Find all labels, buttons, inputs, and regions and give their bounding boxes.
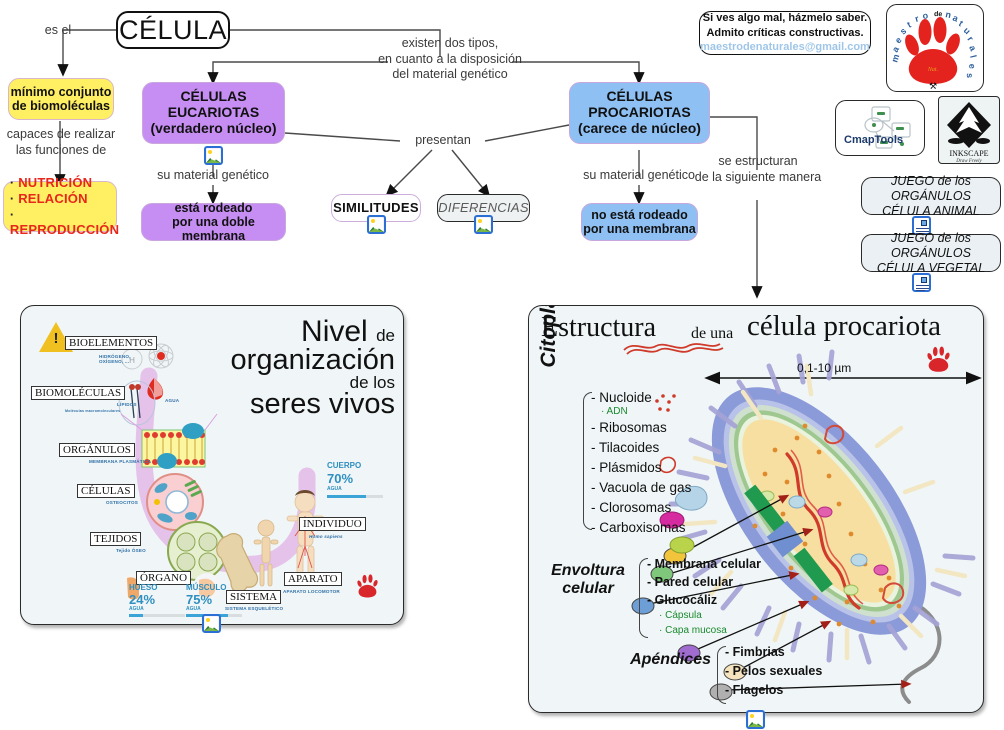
poster-sub-bioelementos: HIDRÓGENO, OXÍGENO, ... <box>99 354 131 364</box>
link-label-existen-dos-tipos: existen dos tipos, en cuanto a la dispos… <box>370 36 530 83</box>
stat-hueso-bar-fill <box>129 614 143 617</box>
poster-sub-individuo: Homo sapiens <box>309 534 343 539</box>
node-juego-celula-animal[interactable]: JUEGO de los ORGÁNULOS CÉLULA ANIMAL <box>861 177 1001 215</box>
svg-text:Nat.: Nat. <box>927 67 938 73</box>
svg-text:⚒: ⚒ <box>929 81 937 91</box>
node-feedback-note[interactable]: Si ves algo mal, házmelo saber. Admito c… <box>699 11 871 55</box>
node-poster-celula-procariota[interactable]: Estructura de una célula procariota <box>528 305 984 713</box>
cmaptools-icon: CmapTools <box>836 101 924 155</box>
svg-text:u: u <box>962 25 973 36</box>
svg-text:t: t <box>905 19 912 29</box>
svg-text:s: s <box>898 26 908 37</box>
item-membrana-celular: - Membrana celular <box>647 557 761 571</box>
svg-text:o: o <box>922 10 929 21</box>
poster-sub-aparato: APARATO LOCOMOTOR <box>283 589 340 594</box>
item-capa-mucosa: · Capa mucosa <box>659 625 727 636</box>
svg-text:r: r <box>914 13 921 24</box>
item-fimbrias: - Fimbrias <box>725 645 785 659</box>
poster-sub-celulas: OSTEOCITOS <box>106 500 138 505</box>
svg-text:t: t <box>957 18 965 28</box>
stat-hueso-unit: AGUA <box>129 606 144 612</box>
stat-cuerpo-bar-fill <box>327 495 366 498</box>
poster-sub-lipidos: LÍPIDOS <box>117 402 137 407</box>
node-similitudes-label: SIMILITUDES <box>332 201 420 216</box>
group-label-citoplasma: Citoplasma <box>537 305 561 386</box>
concept-map-canvas: CÉLULA es el existen dos tipos, en cuant… <box>0 0 1004 730</box>
poster-label-celulas: CÉLULAS <box>77 484 135 498</box>
poster-label-biomoleculas: BIOMOLÉCULAS <box>31 386 125 400</box>
link-label-capaces: capaces de realizar las funciones de <box>0 127 122 158</box>
poster-label-bioelementos: BIOELEMENTOS <box>65 336 157 350</box>
stat-musculo-name: MÚSCULO <box>186 583 226 592</box>
link-label-es-el: es el <box>28 23 88 39</box>
stat-hueso-name: HUESO <box>129 583 157 592</box>
funcion-item: · NUTRICIÓN <box>10 175 119 191</box>
image-resource-icon-eucariotas[interactable] <box>204 146 223 165</box>
svg-text:de: de <box>934 11 943 18</box>
document-resource-icon-vegetal[interactable] <box>912 273 931 292</box>
item-ribosomas: - Ribosomas <box>591 420 667 435</box>
note-line-1: Si ves algo mal, házmelo saber. <box>703 11 867 26</box>
poster-label-tejidos: TEJIDOS <box>90 532 141 546</box>
image-resource-icon-poster-niveles[interactable] <box>202 614 221 633</box>
node-celula-label: CÉLULA <box>118 15 228 45</box>
node-minimo-conjunto-label: mínimo conjunto de biomoléculas <box>9 85 113 113</box>
funcion-item: · REPRODUCCIÓN <box>10 207 119 239</box>
svg-text:CmapTools: CmapTools <box>844 134 903 146</box>
item-clorosomas: - Clorosomas <box>591 500 671 515</box>
poster-sub-tejidos: Tejido ÓSEO <box>116 548 146 553</box>
svg-text:m: m <box>889 53 901 64</box>
poster-label-aparato: APARATO <box>284 572 342 586</box>
node-funciones-vitales[interactable]: · NUTRICIÓN· RELACIÓN· REPRODUCCIÓN <box>3 181 117 232</box>
item-flagelos: - Flagelos <box>725 683 783 697</box>
stat-musculo-unit: AGUA <box>186 606 201 612</box>
node-doble-membrana[interactable]: está rodeado por una doble membrana <box>141 203 286 241</box>
node-juego-vegetal-label: JUEGO de los ORGÁNULOS CÉLULA VEGETAL <box>862 231 1000 276</box>
node-celulas-procariotas[interactable]: CÉLULAS PROCARIOTAS (carece de núcleo) <box>569 82 710 144</box>
item-vacuola-gas: - Vacuola de gas <box>591 480 691 495</box>
node-celulas-eucariotas-label: CÉLULAS EUCARIOTAS (verdadero núcleo) <box>143 89 284 136</box>
node-diferencias-label: DIFERENCIAS <box>438 201 529 216</box>
inkscape-icon: INKSCAPE Draw Freely <box>939 97 999 163</box>
item-plasmidos: - Plásmidos <box>591 460 662 475</box>
svg-text:a: a <box>967 44 979 54</box>
svg-text:n: n <box>945 9 952 20</box>
item-carboxisomas: - Carboxisomas <box>591 520 686 535</box>
image-resource-icon-diferencias[interactable] <box>474 215 493 234</box>
stat-hueso-value: 24% <box>129 592 155 607</box>
node-inkscape-logo[interactable]: INKSCAPE Draw Freely <box>938 96 1000 164</box>
link-label-su-material-der: su material genético <box>573 168 705 184</box>
link-label-presentan: presentan <box>403 133 483 149</box>
node-brand-logo[interactable]: Nat. ⚒ m a e s t r o de n a t u r a l e … <box>886 4 984 92</box>
item-nucloide: - Nucloide <box>591 390 652 405</box>
scale-label: 0,1-10 µm <box>797 361 851 375</box>
svg-text:s: s <box>965 73 975 78</box>
poster-label-organulos: ORGÁNULOS <box>59 443 135 457</box>
node-juego-animal-label: JUEGO de los ORGÁNULOS CÉLULA ANIMAL <box>862 174 1000 219</box>
funcion-item: · RELACIÓN <box>10 191 119 207</box>
poster-sub-biomoleculas: Moléculas macromoleculares <box>65 409 120 413</box>
item-capsula: · Cápsula <box>659 610 702 621</box>
group-label-apendices: Apéndices <box>591 651 711 669</box>
node-cmaptools-logo[interactable]: CmapTools <box>835 100 925 156</box>
svg-text:INKSCAPE: INKSCAPE <box>949 149 988 158</box>
item-pelos-sexuales: - Pelos sexuales <box>725 664 822 678</box>
node-celula[interactable]: CÉLULA <box>116 11 230 49</box>
poster-sub-sistema: SISTEMA ESQUELÉTICO <box>225 606 283 611</box>
poster-sub-organulos: MEMBRANA PLASMÁTICA <box>89 459 151 464</box>
node-celulas-procariotas-label: CÉLULAS PROCARIOTAS (carece de núcleo) <box>570 89 709 136</box>
poster-label-sistema: SISTEMA <box>226 590 281 604</box>
node-doble-membrana-label: está rodeado por una doble membrana <box>142 201 285 243</box>
svg-text:Draw Freely: Draw Freely <box>955 159 982 163</box>
poster-sub-agua: AGUA <box>165 398 179 403</box>
node-poster-niveles-organizacion[interactable]: Nivel de organización de los seres vivos… <box>20 305 404 625</box>
group-label-envoltura: Envoltura celular <box>533 562 643 598</box>
node-juego-celula-vegetal[interactable]: JUEGO de los ORGÁNULOS CÉLULA VEGETAL <box>861 234 1001 272</box>
svg-text:e: e <box>893 35 904 45</box>
item-tilacoides: - Tilacoides <box>591 440 659 455</box>
poster-label-individuo: INDIVIDUO <box>299 517 366 531</box>
svg-text:e: e <box>967 63 977 69</box>
stat-cuerpo-value: 70% <box>327 471 353 486</box>
stat-musculo-value: 75% <box>186 592 212 607</box>
link-label-su-material-izq: su material genético <box>147 168 279 184</box>
link-label-se-estructuran: se estructuran de la siguiente manera <box>694 154 822 185</box>
node-minimo-conjunto[interactable]: mínimo conjunto de biomoléculas <box>8 78 114 120</box>
item-pared-celular: - Pared celular <box>647 575 733 589</box>
node-sin-membrana-label: no está rodeado por una membrana <box>582 208 697 236</box>
paw-logo-icon: Nat. ⚒ m a e s t r o de n a t u r a l e … <box>887 5 983 91</box>
note-line-2: Admito críticas constructivas. <box>706 26 863 41</box>
svg-text:l: l <box>968 54 978 59</box>
funciones-list: · NUTRICIÓN· RELACIÓN· REPRODUCCIÓN <box>1 175 119 238</box>
image-resource-icon-similitudes[interactable] <box>367 215 386 234</box>
note-email: maestrodenaturales@gmail.com <box>700 40 870 55</box>
stat-cuerpo-name: CUERPO <box>327 461 361 470</box>
node-sin-membrana[interactable]: no está rodeado por una membrana <box>581 203 698 241</box>
image-resource-icon-poster-procariota[interactable] <box>746 710 765 729</box>
item-glucocaliz: - Glucocáliz <box>647 593 717 607</box>
svg-text:r: r <box>965 34 975 43</box>
stat-cuerpo-unit: AGUA <box>327 486 342 492</box>
item-adn: · ADN <box>601 406 628 417</box>
node-celulas-eucariotas[interactable]: CÉLULAS EUCARIOTAS (verdadero núcleo) <box>142 82 285 144</box>
